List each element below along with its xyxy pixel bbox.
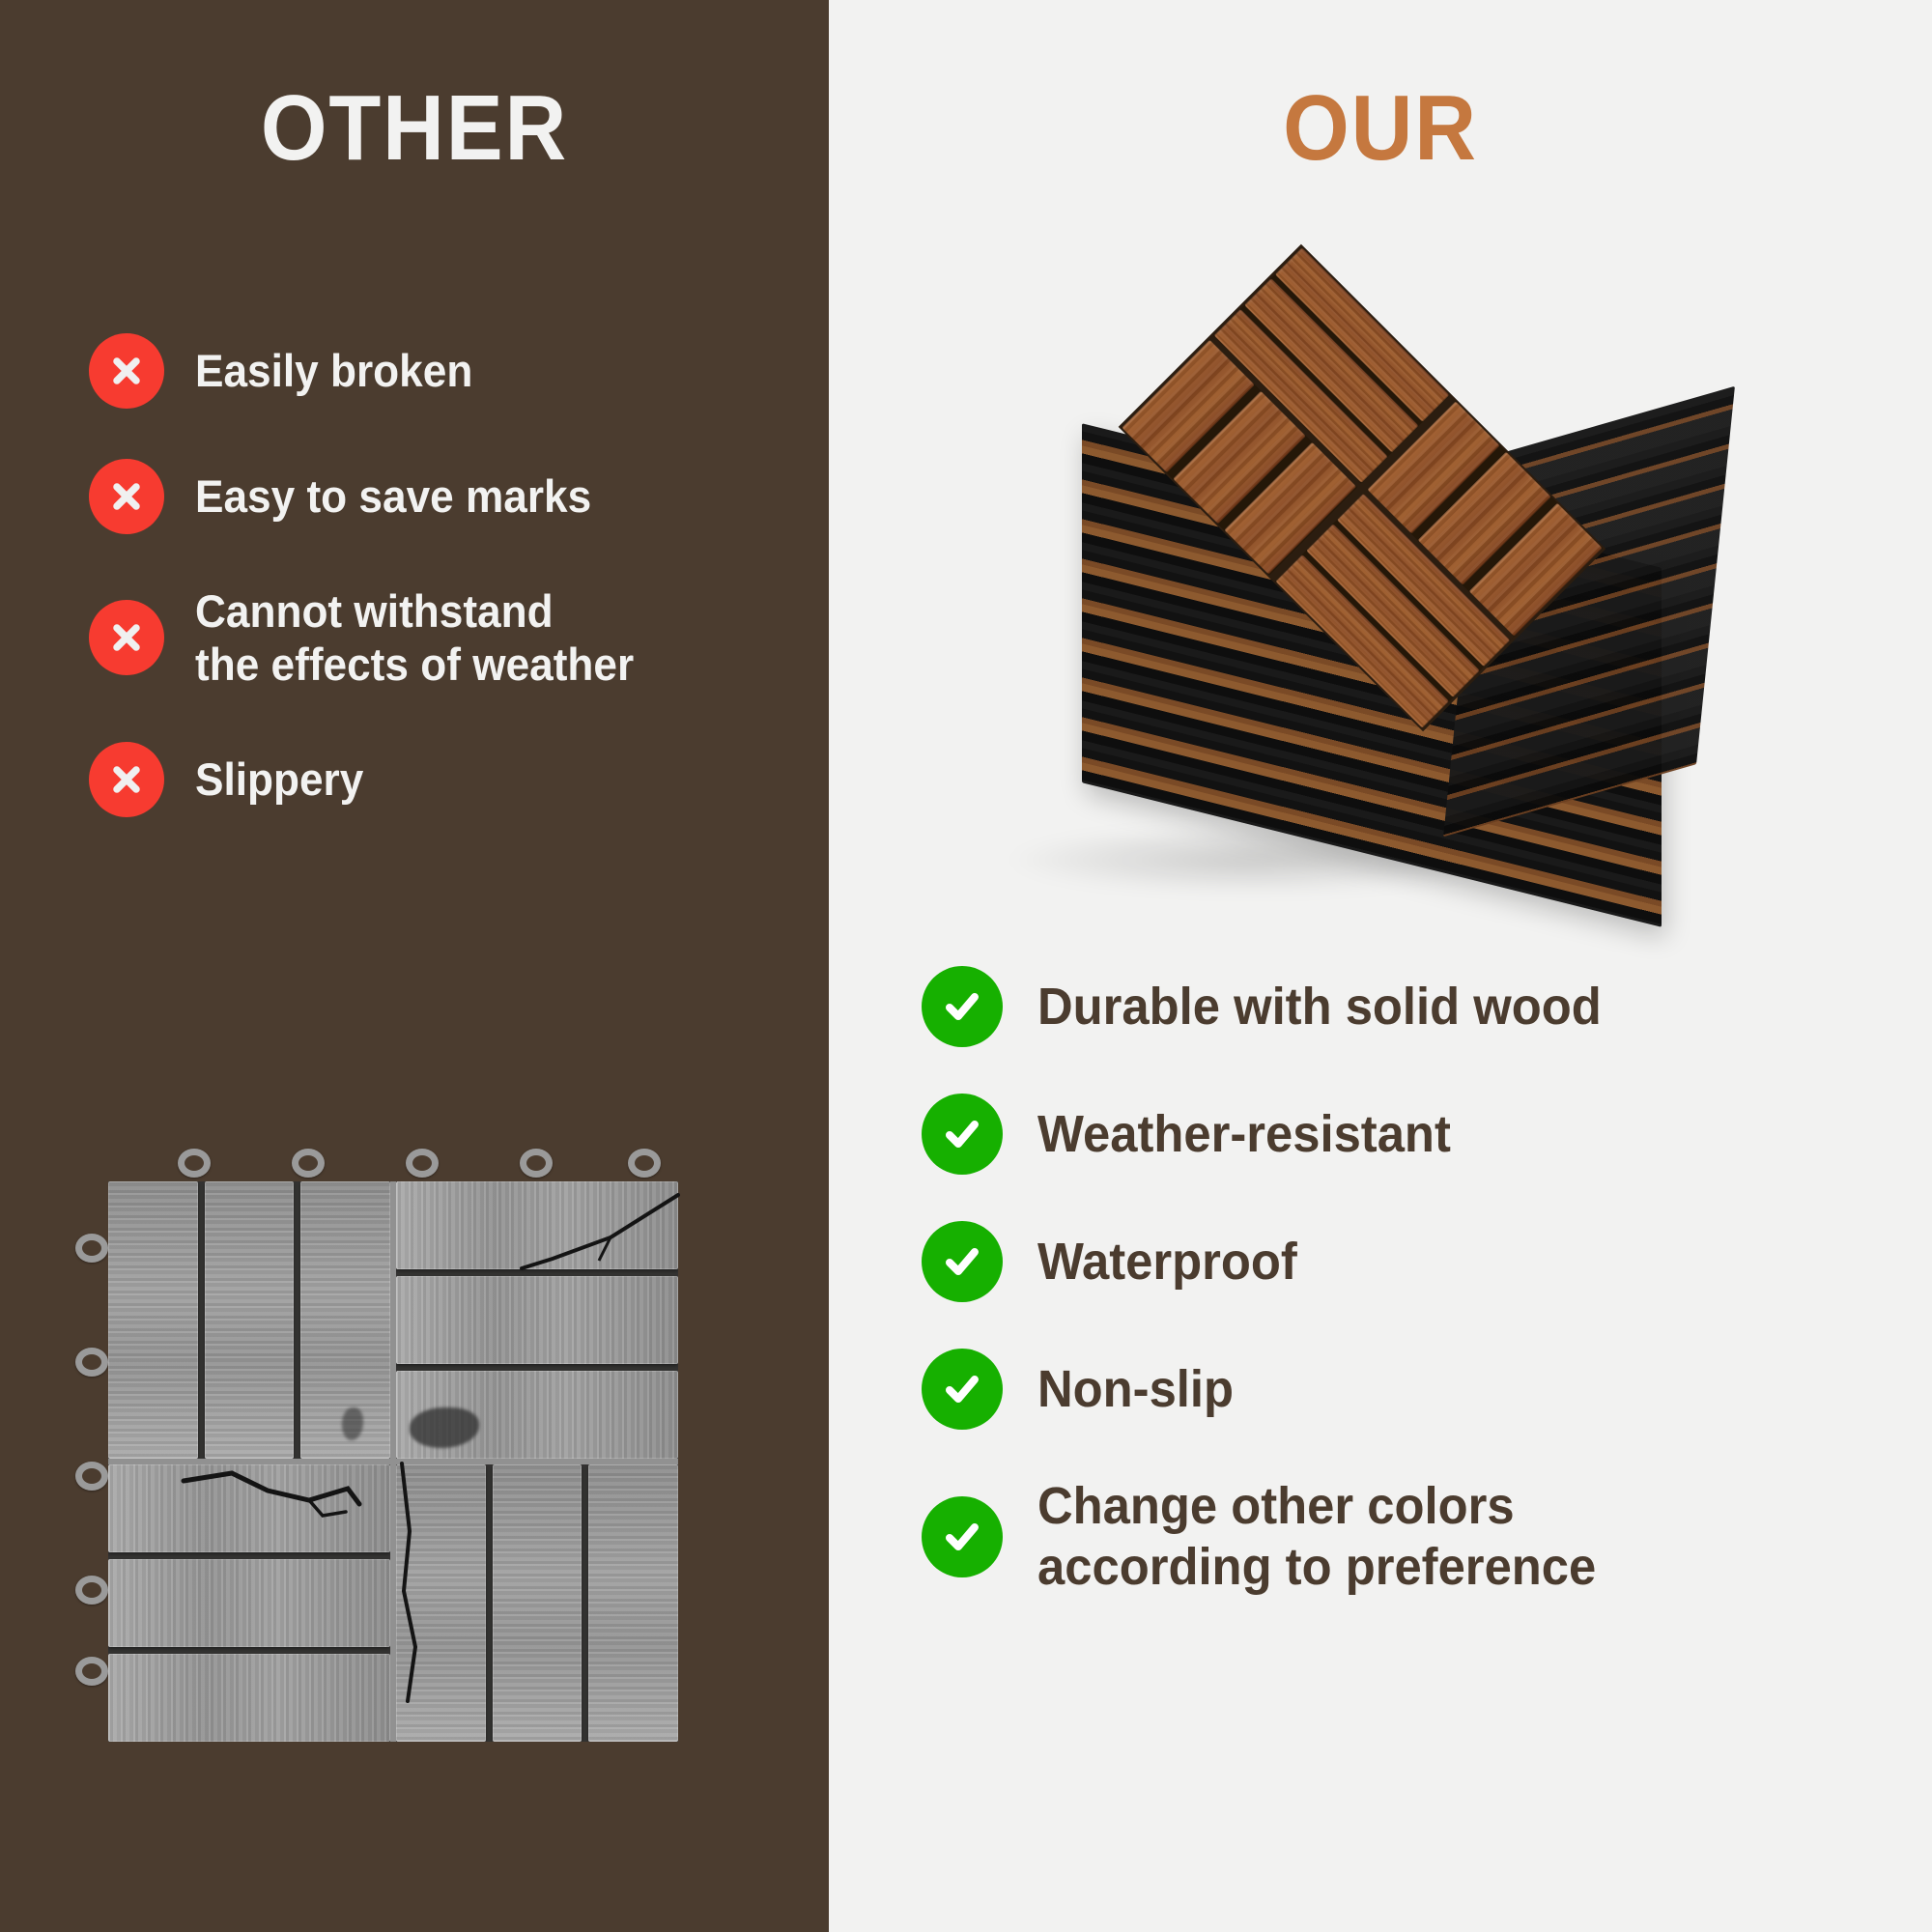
other-drawbacks-list: Easily broken Easy to save marks Cannot … <box>89 333 765 817</box>
check-icon <box>922 1496 1003 1577</box>
list-item-label: Slippery <box>195 753 363 806</box>
list-item-label: Cannot withstand the effects of weather <box>195 584 634 692</box>
comparison-infographic: OTHER Easily broken Easy to save marks <box>0 0 1932 1932</box>
list-item-label: Easy to save marks <box>195 469 591 523</box>
list-item: Slippery <box>89 742 765 817</box>
list-item: Cannot withstand the effects of weather <box>89 584 765 692</box>
list-item: Waterproof <box>922 1221 1917 1302</box>
list-item: Change other colors according to prefere… <box>922 1476 1917 1597</box>
cross-icon <box>89 459 164 534</box>
list-item: Easy to save marks <box>89 459 765 534</box>
weathered-grey-deck-tile-photo <box>70 1145 707 1763</box>
other-heading: OTHER <box>33 75 795 182</box>
wood-tile-stack <box>1057 237 1714 913</box>
our-panel: OUR <box>829 0 1932 1932</box>
check-icon <box>922 1349 1003 1430</box>
list-item-label: Change other colors according to prefere… <box>1037 1476 1596 1597</box>
our-heading: OUR <box>873 75 1889 182</box>
list-item: Easily broken <box>89 333 765 409</box>
check-icon <box>922 1094 1003 1175</box>
cross-icon <box>89 600 164 675</box>
list-item-label: Weather-resistant <box>1037 1104 1451 1165</box>
list-item-label: Non-slip <box>1037 1359 1234 1420</box>
list-item-label: Easily broken <box>195 344 472 397</box>
list-item: Durable with solid wood <box>922 966 1917 1047</box>
list-item-label: Durable with solid wood <box>1037 977 1602 1037</box>
tile-quadrant-bottom-right <box>396 1464 678 1742</box>
grey-tile-surface <box>108 1181 678 1742</box>
tile-quadrant-bottom-left <box>108 1464 390 1742</box>
our-benefits-list: Durable with solid wood Weather-resistan… <box>922 966 1917 1643</box>
list-item: Non-slip <box>922 1349 1917 1430</box>
check-icon <box>922 1221 1003 1302</box>
list-item: Weather-resistant <box>922 1094 1917 1175</box>
list-item-label: Waterproof <box>1037 1232 1297 1293</box>
cross-icon <box>89 333 164 409</box>
other-panel: OTHER Easily broken Easy to save marks <box>0 0 829 1932</box>
cross-icon <box>89 742 164 817</box>
check-icon <box>922 966 1003 1047</box>
acacia-wood-deck-tile-stack-photo <box>829 208 1932 942</box>
